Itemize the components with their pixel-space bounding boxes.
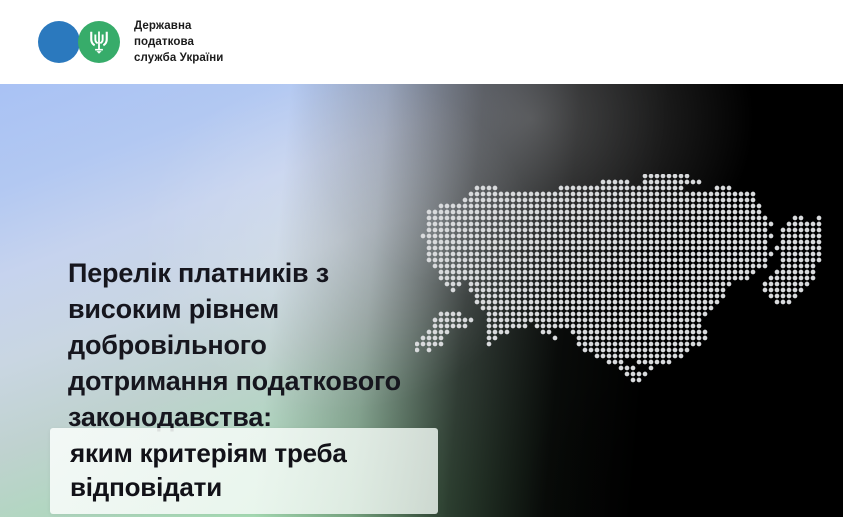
logo-mark — [38, 21, 120, 63]
logo-green-circle — [78, 21, 120, 63]
logo-blue-circle — [38, 21, 80, 63]
logo-organization-name: Державна податкова служба України — [134, 18, 223, 67]
tax-service-banner: Державна податкова служба України Перелі… — [0, 0, 843, 517]
header-bar: Державна податкова служба України — [0, 0, 843, 84]
banner-background: Перелік платників з високим рівнем добро… — [0, 84, 843, 517]
ukraine-trident-icon — [89, 30, 109, 55]
page-subtitle: яким критеріям треба відповідати — [70, 437, 347, 505]
subtitle-highlight-box: яким критеріям треба відповідати — [50, 428, 438, 514]
page-headline: Перелік платників з високим рівнем добро… — [68, 256, 468, 436]
ukraine-dotted-map — [415, 174, 835, 504]
ukraine-map-svg — [415, 174, 835, 504]
